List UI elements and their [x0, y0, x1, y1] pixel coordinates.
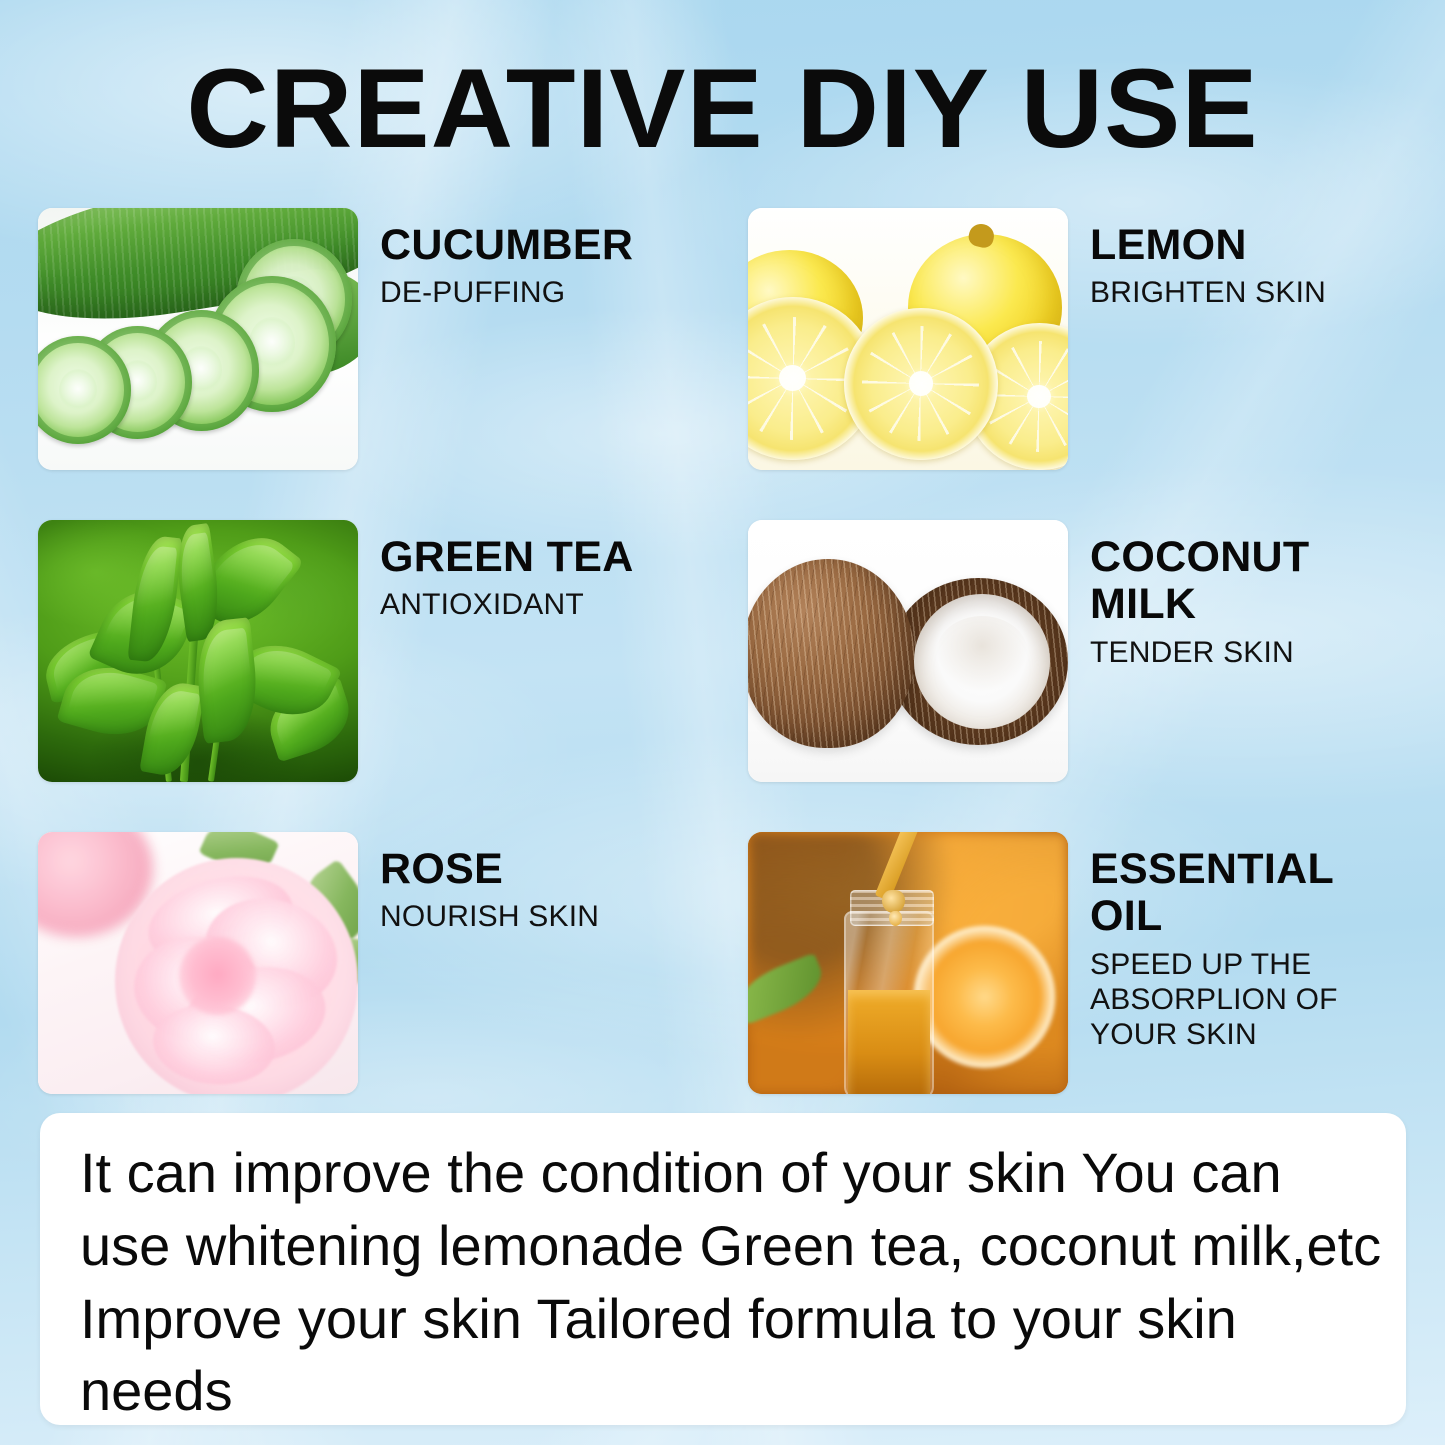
dropper-tip: [882, 890, 904, 914]
ingredient-copy: ROSE NOURISH SKIN: [380, 846, 700, 934]
ingredient-copy: ESSENTIAL OIL SPEED UP THE ABSORPLION OF…: [1090, 846, 1402, 1052]
oil-drop: [889, 911, 902, 927]
ingredient-card-lemon: LEMON BRIGHTEN SKIN: [748, 208, 1408, 470]
ingredient-row: CUCUMBER DE-PUFFING LEMON BRIGHT: [0, 208, 1445, 520]
cucumber-photo: [38, 208, 358, 470]
ingredient-benefit: BRIGHTEN SKIN: [1090, 275, 1402, 310]
coconut-flesh: [914, 594, 1050, 728]
ingredient-benefit: SPEED UP THE ABSORPLION OF YOUR SKIN: [1090, 947, 1402, 1052]
ingredient-card-coconut-milk: COCONUT MILK TENDER SKIN: [748, 520, 1408, 782]
ingredient-name: ESSENTIAL OIL: [1090, 846, 1402, 941]
rose-photo: [38, 832, 358, 1094]
ingredient-grid: CUCUMBER DE-PUFFING LEMON BRIGHT: [0, 208, 1445, 1144]
ingredient-name: COCONUT MILK: [1090, 534, 1402, 629]
coconut-whole: [748, 559, 914, 748]
ingredient-name: LEMON: [1090, 222, 1402, 269]
ingredient-name: CUCUMBER: [380, 222, 700, 269]
ingredient-copy: GREEN TEA ANTIOXIDANT: [380, 534, 700, 622]
ingredient-card-green-tea: GREEN TEA ANTIOXIDANT: [38, 520, 710, 782]
lemon-photo: [748, 208, 1068, 470]
coconut-half: [889, 578, 1068, 746]
ingredient-card-essential-oil: ESSENTIAL OIL SPEED UP THE ABSORPLION OF…: [748, 832, 1408, 1094]
essential-oil-photo: [748, 832, 1068, 1094]
coconut-photo: [748, 520, 1068, 782]
orange-leaf: [748, 953, 829, 1025]
ingredient-row: GREEN TEA ANTIOXIDANT COCONUT MILK TENDE…: [0, 520, 1445, 832]
ingredient-benefit: NOURISH SKIN: [380, 899, 700, 934]
rose-center: [179, 937, 256, 1016]
ingredient-copy: COCONUT MILK TENDER SKIN: [1090, 534, 1402, 670]
oil-liquid: [848, 990, 930, 1094]
ingredient-copy: CUCUMBER DE-PUFFING: [380, 222, 700, 310]
ingredient-name: GREEN TEA: [380, 534, 700, 581]
lemon-slice: [844, 308, 998, 460]
product-infographic: CREATIVE DIY USE CUCUMBER: [0, 0, 1445, 1445]
description-panel: It can improve the condition of your ski…: [40, 1113, 1406, 1425]
description-text: It can improve the condition of your ski…: [80, 1137, 1384, 1428]
oil-bottle: [844, 911, 934, 1094]
ingredient-card-rose: ROSE NOURISH SKIN: [38, 832, 710, 1094]
orange-slice: [914, 926, 1055, 1067]
ingredient-row: ROSE NOURISH SKIN: [0, 832, 1445, 1144]
green-tea-photo: [38, 520, 358, 782]
ingredient-benefit: DE-PUFFING: [380, 275, 700, 310]
ingredient-card-cucumber: CUCUMBER DE-PUFFING: [38, 208, 710, 470]
ingredient-copy: LEMON BRIGHTEN SKIN: [1090, 222, 1402, 310]
ingredient-name: ROSE: [380, 846, 700, 893]
ingredient-benefit: ANTIOXIDANT: [380, 587, 700, 622]
ingredient-benefit: TENDER SKIN: [1090, 635, 1402, 670]
page-title: CREATIVE DIY USE: [0, 52, 1445, 166]
